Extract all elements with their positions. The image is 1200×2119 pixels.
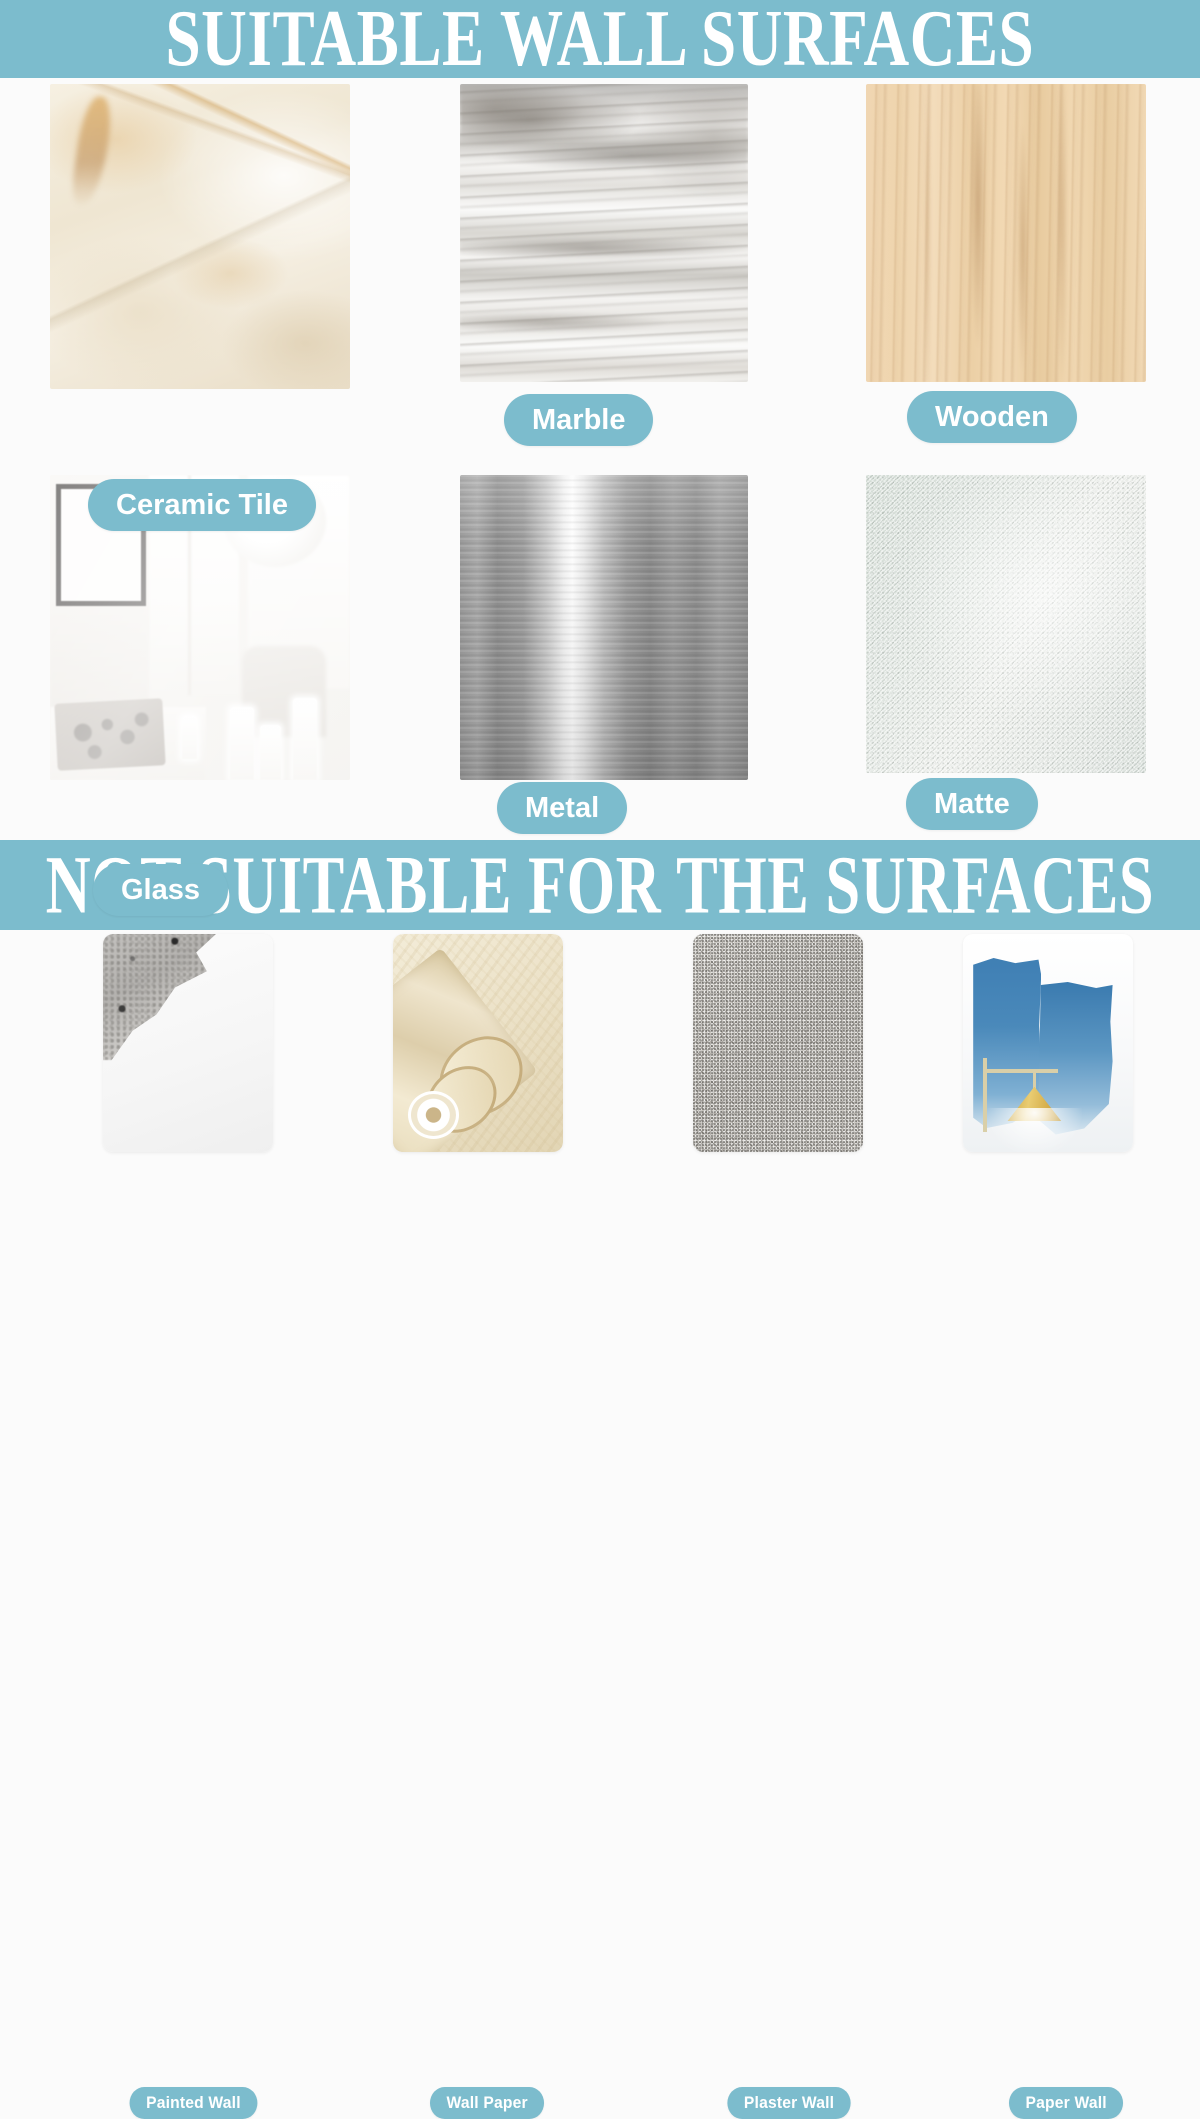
surface-label-marble: Marble (504, 394, 653, 446)
blue-paper-wall-lamp-photo (963, 934, 1133, 1152)
unsuitable-label-paper-wall: Paper Wall (1009, 2087, 1123, 2119)
not-suitable-surfaces-grid: Painted Wall Wall Paper Plaster Wall (0, 930, 1200, 1200)
surface-label-ceramic-tile: Ceramic Tile (88, 479, 316, 531)
infographic-page: SUITABLE WALL SURFACES Ceramic Tile Marb… (0, 0, 1200, 1200)
unsuitable-card-paper-wall[interactable] (963, 934, 1133, 1152)
rough-plaster-texture (693, 934, 863, 1152)
surface-label-glass: Glass (93, 864, 228, 916)
unsuitable-card-wall-paper[interactable] (393, 934, 563, 1152)
brushed-metal-texture (460, 475, 748, 780)
surface-label-matte: Matte (906, 778, 1038, 830)
surface-card-wooden[interactable] (866, 84, 1146, 382)
unsuitable-card-plaster-wall[interactable] (693, 934, 863, 1152)
matte-stipple-texture (866, 475, 1146, 773)
ceramic-tile-texture (50, 84, 350, 389)
peeling-painted-wall-photo (103, 934, 273, 1152)
wood-grain-texture (866, 84, 1146, 382)
lamp-glow (987, 1108, 1082, 1152)
wallpaper-roll-photo (393, 934, 563, 1152)
surface-card-matte[interactable] (866, 475, 1146, 773)
unsuitable-label-wall-paper: Wall Paper (430, 2087, 544, 2119)
surface-label-wooden: Wooden (907, 391, 1077, 443)
surface-card-marble[interactable] (460, 84, 748, 382)
peeling-plaster-patch (103, 934, 225, 1060)
surface-card-metal[interactable] (460, 475, 748, 780)
lamp-arm (983, 1069, 1058, 1073)
unsuitable-label-painted-wall: Painted Wall (130, 2087, 258, 2119)
lamp-stem (1033, 1069, 1036, 1089)
unsuitable-label-plaster-wall: Plaster Wall (727, 2087, 850, 2119)
surface-card-ceramic-tile[interactable] (50, 84, 350, 389)
suitable-banner-title: SUITABLE WALL SURFACES (166, 0, 1035, 78)
unsuitable-card-painted-wall[interactable] (103, 934, 273, 1152)
suitable-banner: SUITABLE WALL SURFACES (0, 0, 1200, 78)
suitable-surfaces-grid: Ceramic Tile Marble Wooden (0, 84, 1200, 840)
marble-texture (460, 84, 748, 382)
ceramic-vein-accent (70, 95, 115, 208)
wallpaper-roll-core (408, 1091, 459, 1139)
surface-label-metal: Metal (497, 782, 627, 834)
